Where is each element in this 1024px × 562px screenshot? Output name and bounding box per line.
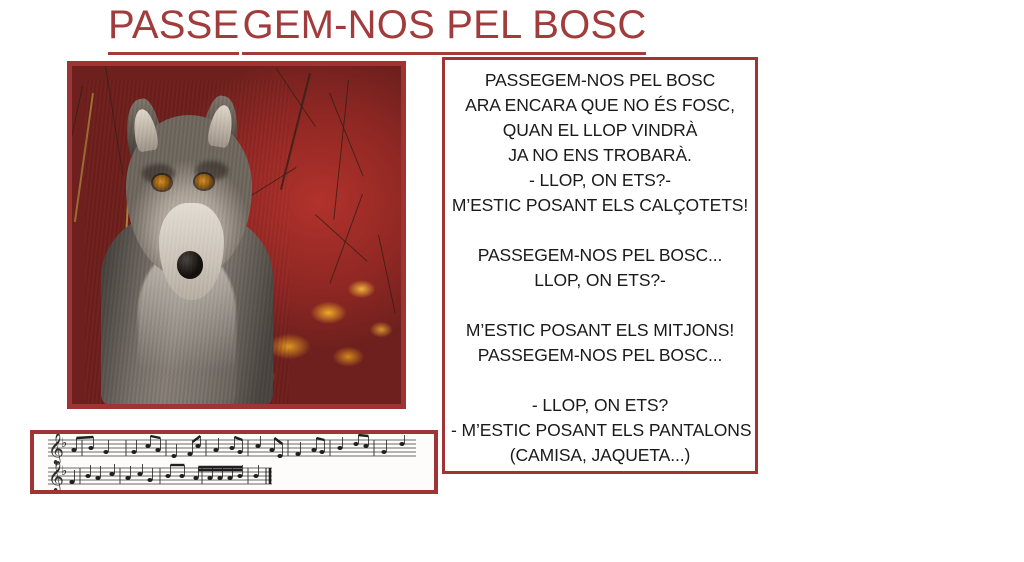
lyric-line: LLOP, ON ETS?- (451, 268, 749, 293)
wolf-figure (85, 80, 289, 404)
wolf-eye-right (195, 174, 212, 189)
lyric-line: JA NO ENS TROBARÀ. (451, 143, 749, 168)
lyric-line: M’ESTIC POSANT ELS MITJONS! (451, 318, 749, 343)
lyric-line: PASSEGEM-NOS PEL BOSC (451, 68, 749, 93)
wolf-photo (72, 66, 401, 404)
music-score-box: 𝄞 𝄞 ♭ ♭ (30, 430, 438, 494)
lyric-line: ARA ENCARA QUE NO ÉS FOSC, (451, 93, 749, 118)
lyric-line-spacer (451, 218, 749, 243)
slide-canvas: PASSEGEM-NOS PEL BOSC (0, 0, 1024, 562)
lyric-line: (CAMISA, JAQUETA...) (451, 443, 749, 468)
branch-decoration (67, 86, 83, 174)
branch-decoration (315, 214, 368, 262)
page-title: PASSEGEM-NOS PEL BOSC (108, 2, 646, 55)
lyric-line: - M’ESTIC POSANT ELS PANTALONS (451, 418, 749, 443)
lyric-line: - LLOP, ON ETS? (451, 393, 749, 418)
branch-decoration (334, 80, 350, 219)
lyric-line: PASSEGEM-NOS PEL BOSC... (451, 243, 749, 268)
page-title-segment-1: PASSE (108, 2, 239, 55)
lyric-line: M’ESTIC POSANT ELS CALÇOTETS! (451, 193, 749, 218)
branch-decoration (378, 235, 396, 313)
flat-sign-icon: ♭ (61, 436, 67, 451)
page-title-segment-2: GEM-NOS PEL BOSC (242, 2, 646, 55)
music-score-notation: 𝄞 𝄞 ♭ ♭ (34, 434, 434, 490)
lyrics-text-box: PASSEGEM-NOS PEL BOSC ARA ENCARA QUE NO … (442, 57, 758, 474)
lyric-line: PASSEGEM-NOS PEL BOSC... (451, 343, 749, 368)
wolf-eye-left (153, 175, 170, 190)
lyric-line: - LLOP, ON ETS?- (451, 168, 749, 193)
lyric-line-spacer (451, 368, 749, 393)
flat-sign-icon: ♭ (61, 464, 67, 479)
lyric-line-spacer (451, 293, 749, 318)
wolf-photo-frame (67, 61, 406, 409)
lyric-line: QUAN EL LLOP VINDRÀ (451, 118, 749, 143)
